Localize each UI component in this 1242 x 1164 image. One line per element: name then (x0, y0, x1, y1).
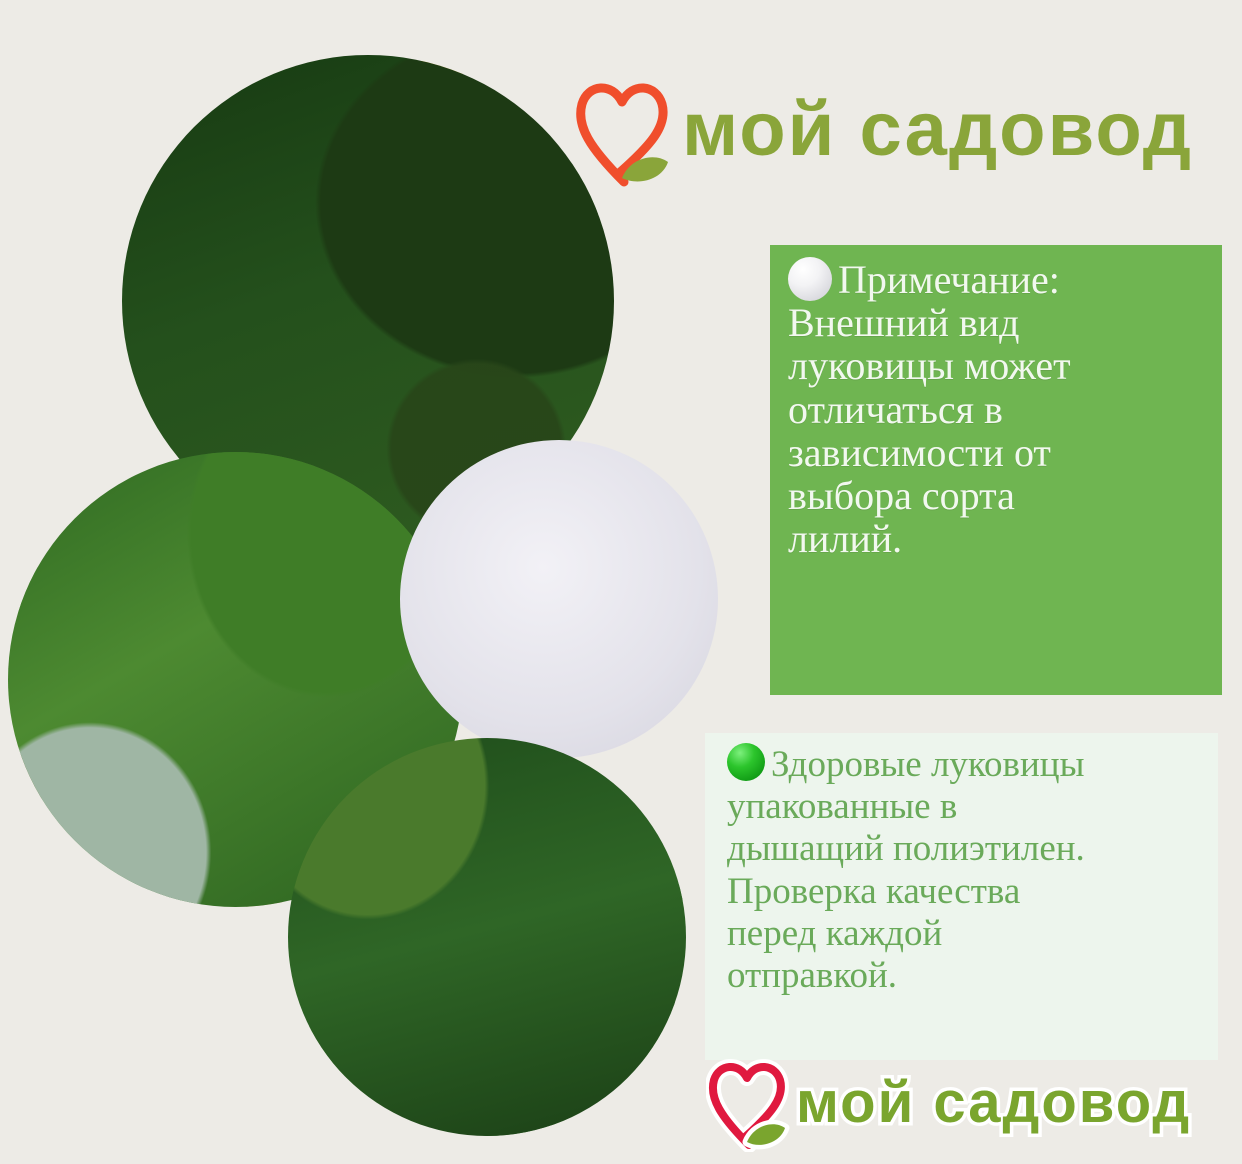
quality-line-0: Здоровые луковицы (771, 744, 1084, 785)
note-line-0: Примечание: (838, 257, 1060, 302)
red-yellow-lily-background (288, 738, 686, 1136)
poster-canvas: мой садовод Примечание: Внешний вид луко… (0, 0, 1242, 1164)
brand-watermark-bottom[interactable]: мой садовод (706, 1046, 1214, 1158)
note-text: Примечание: Внешний вид луковицы может о… (788, 257, 1208, 560)
note-line-1: Внешний вид (788, 300, 1020, 345)
photo-red-yellow-lily (288, 738, 686, 1136)
quality-text: Здоровые луковицы упакованные в дышащий … (727, 743, 1208, 997)
white-circle-icon (788, 257, 832, 301)
leaf-icon (572, 70, 676, 190)
photo-lily-bulbs (400, 440, 718, 758)
heart-outline-icon-watermark (706, 1052, 792, 1152)
note-line-2: луковицы может (788, 343, 1071, 388)
brand-logo-top[interactable]: мой садовод (572, 57, 1222, 202)
quality-line-4: перед каждой (727, 913, 942, 954)
note-box: Примечание: Внешний вид луковицы может о… (770, 245, 1222, 695)
note-line-4: зависимости от (788, 430, 1051, 475)
heart-outline-icon (572, 70, 676, 190)
quality-box: Здоровые луковицы упакованные в дышащий … (705, 733, 1218, 1060)
green-circle-icon (727, 743, 765, 781)
brand-name-bottom: мой садовод (796, 1069, 1191, 1136)
quality-line-2: дышащий полиэтилен. (727, 828, 1085, 869)
quality-line-5: отправкой. (727, 955, 897, 996)
brand-name-top: мой садовод (682, 86, 1193, 173)
note-line-5: выбора сорта (788, 473, 1015, 518)
note-line-6: лилий. (788, 516, 902, 561)
note-line-3: отличаться в (788, 387, 1003, 432)
quality-line-3: Проверка качества (727, 871, 1020, 912)
bulbs-cloth-background (400, 440, 718, 758)
quality-line-1: упакованные в (727, 786, 957, 827)
